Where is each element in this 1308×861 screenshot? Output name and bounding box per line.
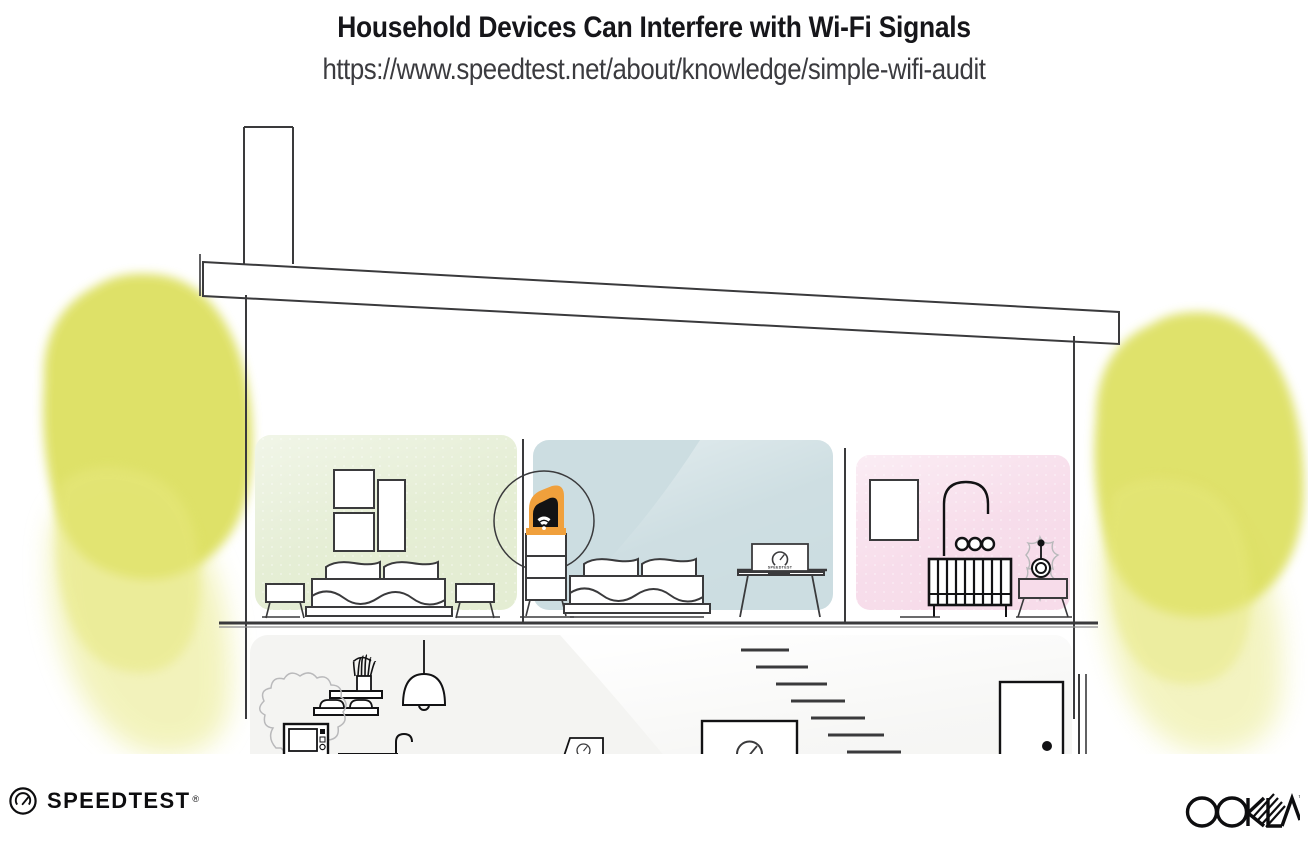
poster-root: Household Devices Can Interfere with Wi-…: [0, 0, 1308, 861]
speedtest-trademark: ®: [192, 794, 199, 804]
ookla-trademark: ™: [1298, 795, 1300, 802]
page-title: Household Devices Can Interfere with Wi-…: [78, 11, 1229, 45]
ookla-letter-a: [1282, 798, 1300, 826]
desk-monitor[interactable]: SPEEDTEST: [752, 544, 808, 575]
poster-footer: SPEEDTEST®: [0, 786, 1308, 848]
speedtest-wordmark: SPEEDTEST: [47, 788, 190, 813]
roof: [203, 262, 1119, 344]
nightstand-nursery: [1018, 579, 1068, 617]
poster-header: Household Devices Can Interfere with Wi-…: [0, 0, 1308, 87]
tree-left: [43, 274, 252, 754]
nightstand-green-left: [266, 584, 304, 618]
speedtest-logo[interactable]: SPEEDTEST®: [8, 786, 199, 816]
door-side-panel: [1079, 674, 1086, 754]
bed-green: [306, 562, 452, 616]
front-door[interactable]: [1000, 682, 1063, 754]
ookla-logo[interactable]: ™: [1182, 790, 1300, 839]
tree-right: [1094, 312, 1304, 753]
wifi-router[interactable]: [526, 485, 566, 535]
living-room-tv[interactable]: SPEEDTEST: [702, 721, 797, 754]
chimney: [244, 127, 293, 271]
speedometer-icon: [8, 786, 38, 816]
door-knob: [1042, 741, 1052, 751]
ookla-letter-o2: [1218, 798, 1247, 826]
bed-blue: [564, 559, 710, 617]
house-illustration: SPEEDTEST: [0, 104, 1308, 754]
monitor-screen-label: SPEEDTEST: [768, 566, 793, 570]
ookla-letter-k: [1248, 798, 1264, 826]
wall-frame-nursery: [870, 480, 918, 540]
microwave[interactable]: [284, 724, 328, 754]
nightstand-green-right: [456, 584, 494, 618]
page-subtitle-url: https://www.speedtest.net/about/knowledg…: [92, 53, 1217, 87]
ookla-letter-o1: [1188, 798, 1217, 826]
